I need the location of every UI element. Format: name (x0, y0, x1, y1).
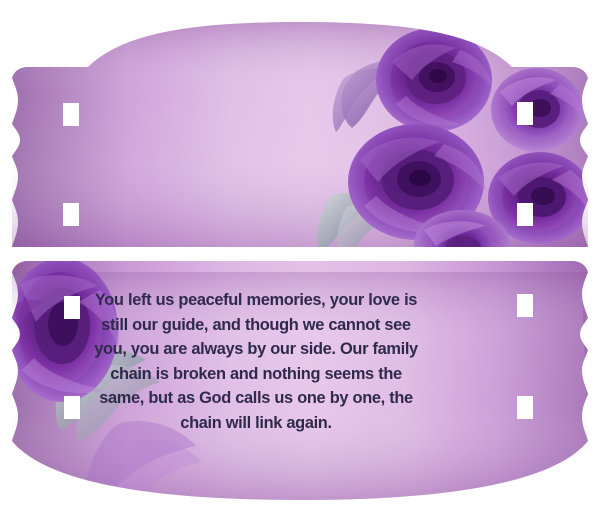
mounting-slot[interactable] (64, 396, 80, 419)
mounting-slot[interactable] (64, 296, 80, 319)
mounting-slot[interactable] (517, 102, 533, 125)
mounting-slot[interactable] (517, 203, 533, 226)
plaque-artwork (0, 0, 600, 518)
rose-icon (376, 28, 492, 132)
mounting-slot[interactable] (63, 203, 79, 226)
mounting-slot[interactable] (517, 396, 533, 419)
mounting-slot[interactable] (517, 294, 533, 317)
mounting-slot[interactable] (63, 103, 79, 126)
plaque-canvas: You left us peaceful memories, your love… (0, 0, 600, 518)
top-plaque[interactable] (12, 22, 592, 278)
bottom-plaque[interactable] (6, 258, 588, 502)
